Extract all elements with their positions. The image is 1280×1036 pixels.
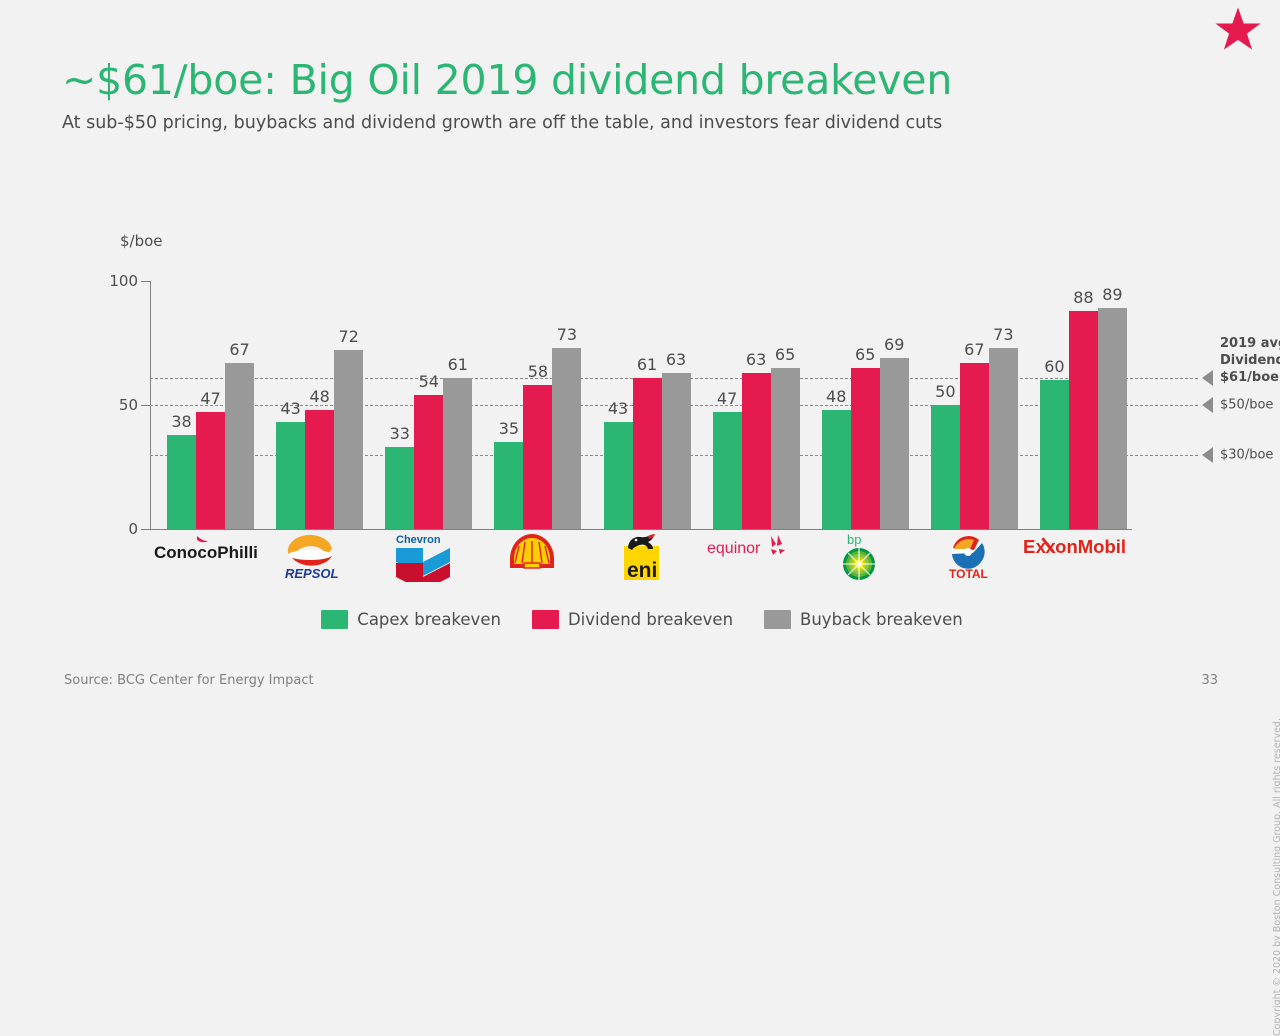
y-axis-tick-label: 50 (96, 396, 138, 414)
bar[interactable] (552, 348, 581, 529)
bar[interactable] (225, 363, 254, 529)
bar-value-label: 89 (1092, 285, 1132, 304)
bar[interactable] (851, 368, 880, 529)
bar-group: 476365 (713, 281, 800, 529)
bar[interactable] (713, 412, 742, 529)
svg-text:eni: eni (627, 559, 657, 582)
bar[interactable] (662, 373, 691, 529)
legend-swatch (764, 610, 791, 629)
bar-value-label: 65 (765, 345, 805, 364)
bar[interactable] (989, 348, 1018, 529)
chart-container: $/boe 050100 2019 avgDividend BE =$61/bo… (62, 232, 1222, 612)
legend-label: Dividend breakeven (568, 610, 733, 629)
exxonmobil-logo: E x x onMobil (1023, 532, 1132, 590)
svg-text:Chevron: Chevron (396, 534, 441, 546)
bar[interactable] (822, 410, 851, 529)
copyright-notice: Copyright © 2020 by Boston Consulting Gr… (1272, 718, 1280, 1036)
bar-group: 335461 (385, 281, 472, 529)
eni-logo: eni (586, 532, 695, 590)
bar[interactable] (443, 378, 472, 529)
bar-value-label: 73 (983, 325, 1023, 344)
bar[interactable] (742, 373, 771, 529)
bar-group: 436163 (604, 281, 691, 529)
bar[interactable] (931, 405, 960, 529)
equinor-logo: equinor (696, 532, 805, 590)
svg-text:ConocoPhillips: ConocoPhillips (154, 543, 257, 562)
bar-group: 486569 (822, 281, 909, 529)
legend-label: Buyback breakeven (800, 610, 963, 629)
legend-swatch (532, 610, 559, 629)
y-axis-unit-label: $/boe (120, 232, 163, 250)
bars-layer: 3847674348723354613558734361634763654865… (150, 281, 1132, 529)
bar-group: 608889 (1040, 281, 1127, 529)
bar[interactable] (633, 378, 662, 529)
source-note: Source: BCG Center for Energy Impact (64, 673, 314, 688)
svg-text:bp: bp (847, 532, 861, 547)
x-axis-logos: ConocoPhillips REPSOL Chevron e (150, 532, 1132, 590)
bar[interactable] (305, 410, 334, 529)
bar[interactable] (196, 412, 225, 529)
conocophillips-logo: ConocoPhillips (150, 532, 259, 590)
bar[interactable] (494, 442, 523, 529)
bar-value-label: 73 (547, 325, 587, 344)
reference-line-label: $30/boe (1220, 447, 1273, 462)
plot-area: 050100 2019 avgDividend BE =$61/boe$50/b… (150, 281, 1132, 529)
reference-line-label: 2019 avgDividend BE =$61/boe (1220, 335, 1280, 387)
chart-legend: Capex breakevenDividend breakevenBuyback… (62, 610, 1222, 629)
y-axis-tick-label: 100 (96, 272, 138, 290)
y-axis-tick (141, 405, 150, 406)
bar[interactable] (604, 422, 633, 529)
svg-text:REPSOL: REPSOL (285, 566, 339, 581)
bar[interactable] (1098, 308, 1127, 529)
bar[interactable] (960, 363, 989, 529)
bar[interactable] (276, 422, 305, 529)
bar-value-label: 69 (874, 335, 914, 354)
y-axis-tick (141, 281, 150, 282)
reference-line-label: $50/boe (1220, 398, 1273, 413)
bcg-star-logo (1214, 6, 1262, 54)
bar[interactable] (414, 395, 443, 529)
bar-value-label: 72 (329, 327, 369, 346)
shell-logo (477, 532, 586, 590)
legend-swatch (321, 610, 348, 629)
bar-value-label: 67 (220, 340, 260, 359)
legend-item[interactable]: Dividend breakeven (532, 610, 733, 629)
bar-group: 434872 (276, 281, 363, 529)
y-axis-tick-label: 0 (96, 520, 138, 538)
bar[interactable] (1040, 380, 1069, 529)
slide-header: ~$61/boe: Big Oil 2019 dividend breakeve… (62, 58, 1162, 134)
legend-item[interactable]: Capex breakeven (321, 610, 501, 629)
reference-line-marker (1202, 447, 1213, 463)
legend-label: Capex breakeven (357, 610, 501, 629)
bar[interactable] (385, 447, 414, 529)
bar-group: 384767 (167, 281, 254, 529)
bar[interactable] (167, 435, 196, 529)
svg-text:equinor: equinor (707, 540, 761, 557)
page-title: ~$61/boe: Big Oil 2019 dividend breakeve… (62, 58, 1162, 104)
bar[interactable] (334, 350, 363, 529)
repsol-logo: REPSOL (259, 532, 368, 590)
bar-value-label: 61 (438, 355, 478, 374)
total-logo: TOTAL (914, 532, 1023, 590)
bar[interactable] (771, 368, 800, 529)
reference-line-marker (1202, 397, 1213, 413)
bar[interactable] (523, 385, 552, 529)
bar-value-label: 63 (656, 350, 696, 369)
x-axis-line (150, 529, 1132, 530)
bar-group: 506773 (931, 281, 1018, 529)
legend-item[interactable]: Buyback breakeven (764, 610, 963, 629)
bar-group: 355873 (494, 281, 581, 529)
y-axis-tick (141, 529, 150, 530)
bp-logo: bp (805, 532, 914, 590)
svg-text:TOTAL: TOTAL (949, 567, 988, 581)
page-subtitle: At sub-$50 pricing, buybacks and dividen… (62, 113, 1162, 134)
reference-line-marker (1202, 370, 1213, 386)
page-number: 33 (1201, 673, 1218, 688)
svg-text:onMobil: onMobil (1055, 536, 1126, 557)
bar[interactable] (880, 358, 909, 529)
svg-text:E: E (1023, 536, 1035, 557)
bar[interactable] (1069, 311, 1098, 529)
chevron-logo: Chevron (368, 532, 477, 590)
